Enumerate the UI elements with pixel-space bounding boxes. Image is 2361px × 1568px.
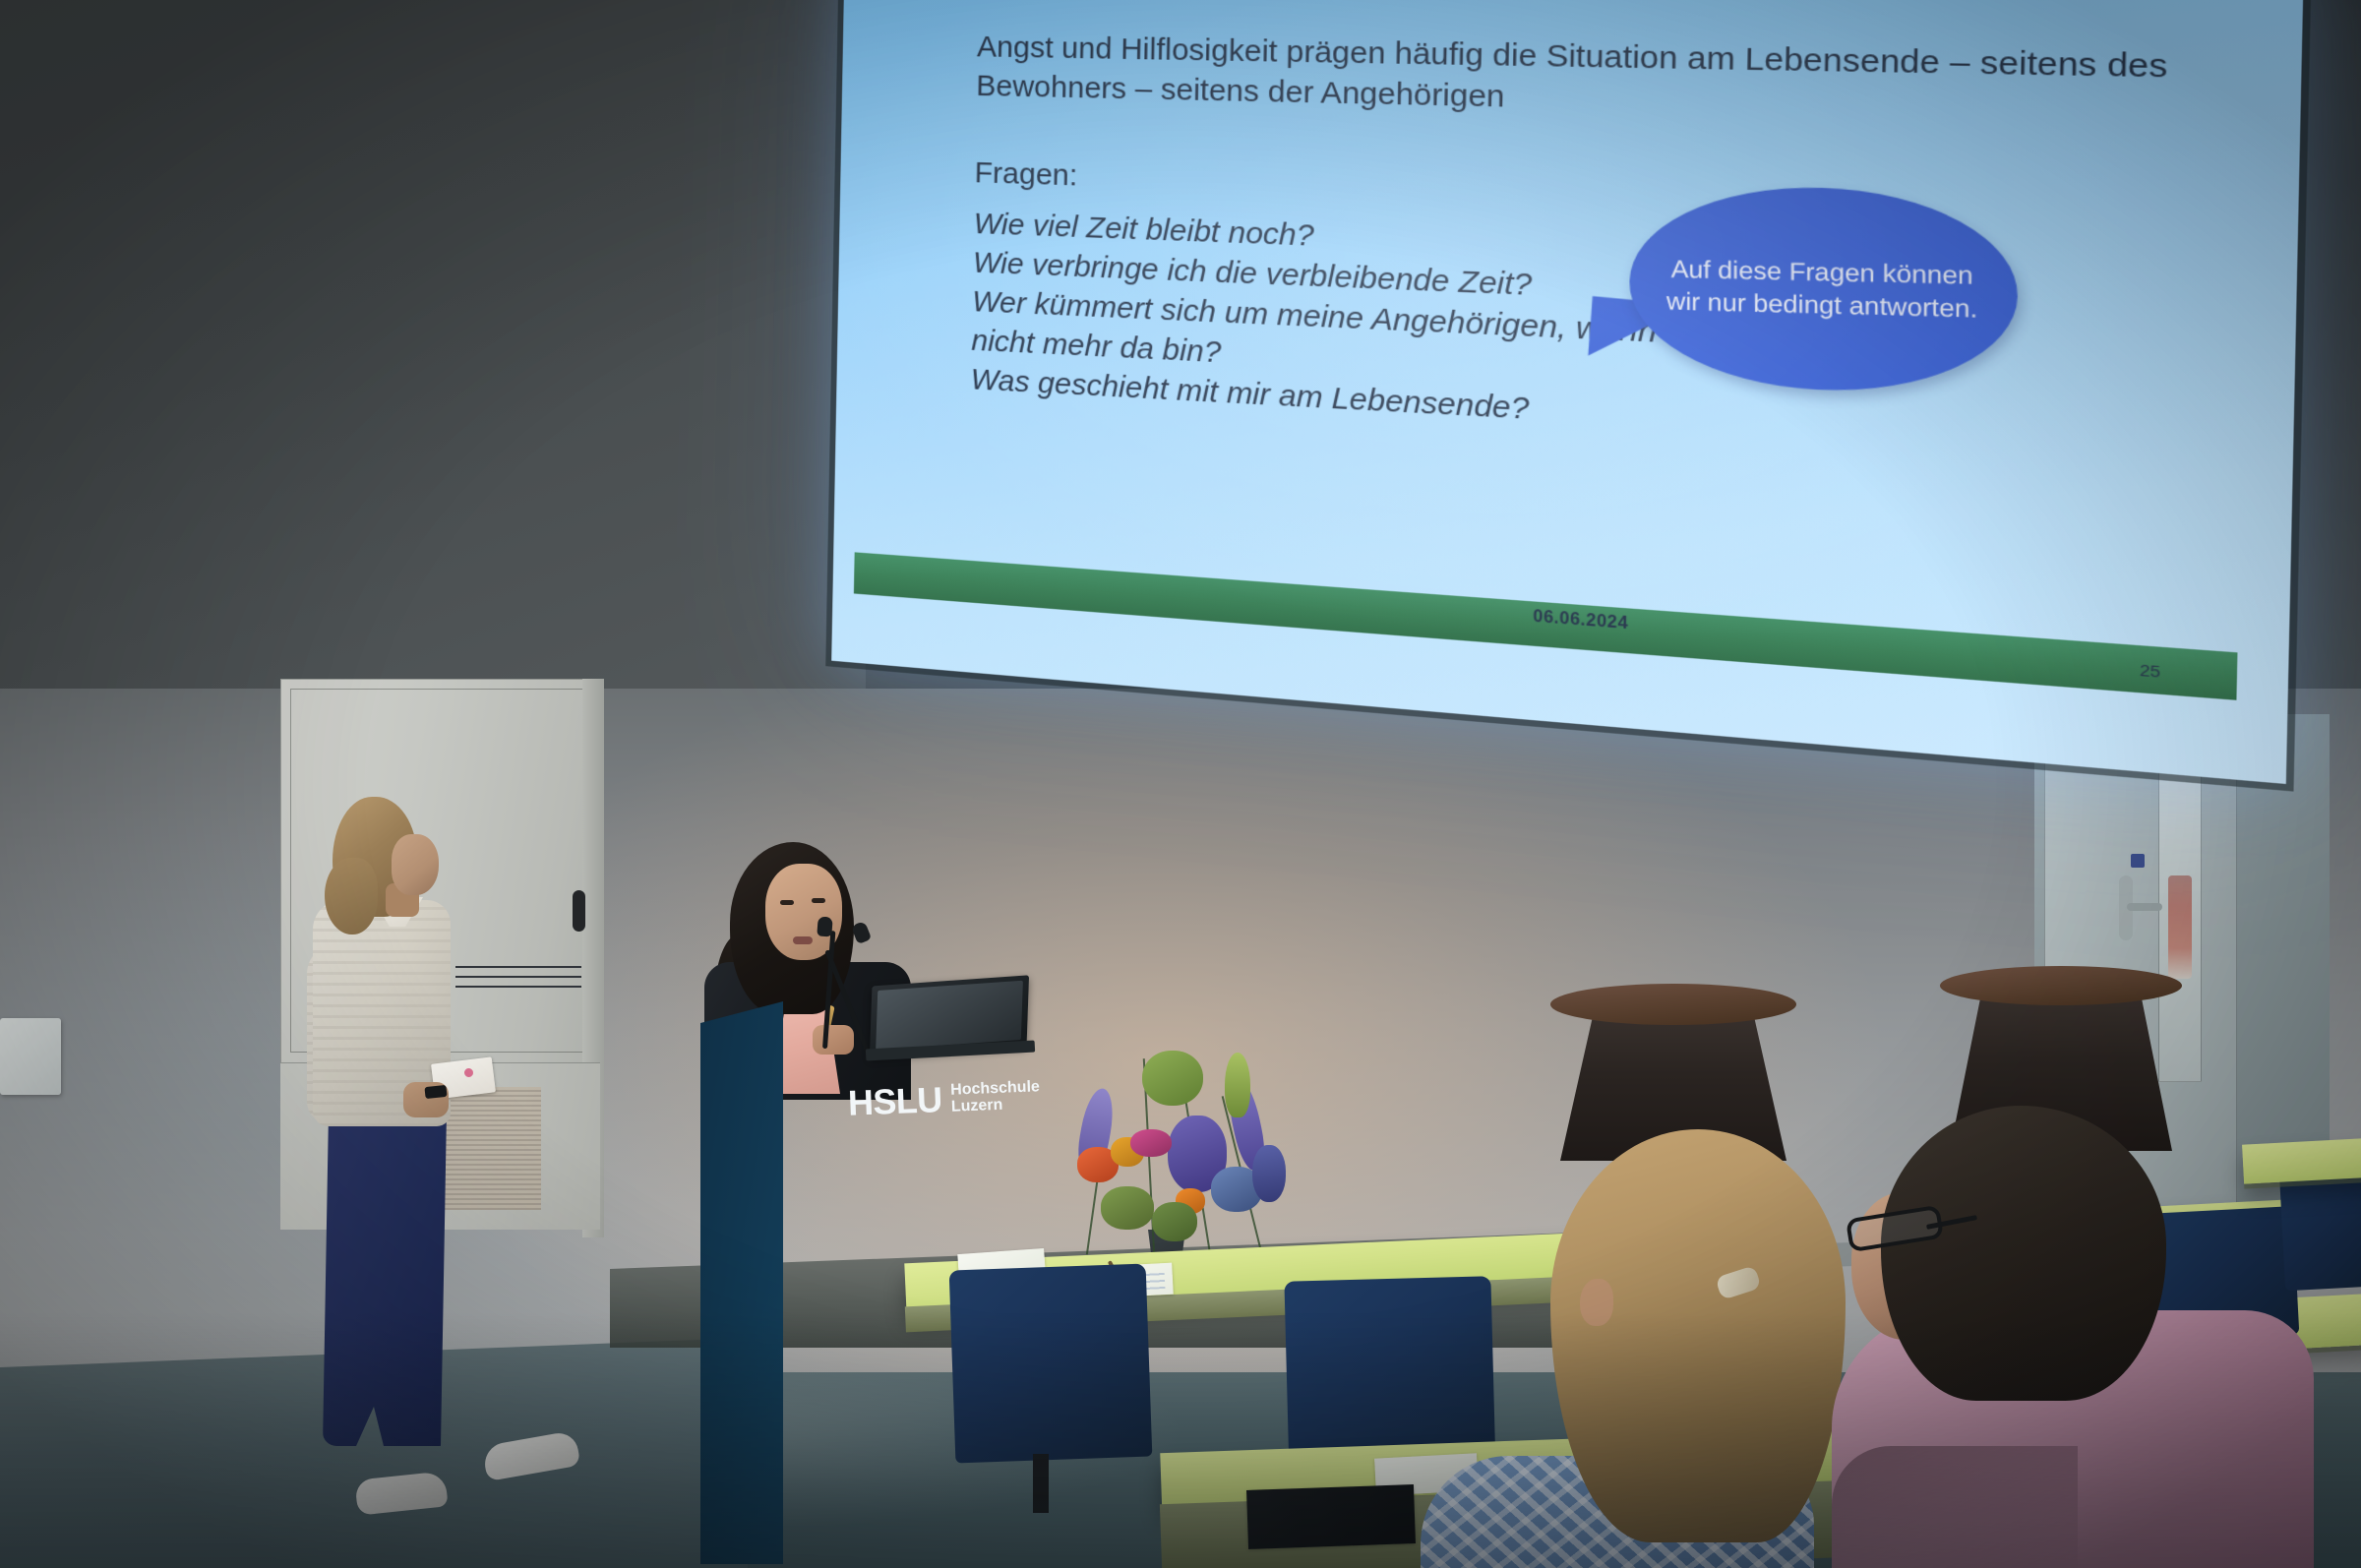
vent-slot-icon [455,976,581,978]
flower-blue [1252,1145,1286,1202]
foliage [1225,1053,1250,1117]
lecture-hall-photo: flegealltag Antwort Bewohners haben wir … [0,0,2361,1568]
bistro-table-top [1940,966,2182,1005]
slide-line-antwort: Antwort [978,0,1080,10]
foliage [1101,1186,1154,1230]
ear [1580,1279,1613,1326]
flower-pink [1130,1129,1172,1157]
vent-slot-icon [455,966,581,968]
trousers [323,1112,451,1446]
hslu-wordmark: HSLU [847,1079,942,1124]
hslu-logo-subtitle: Hochschule Luzern [950,1075,1041,1116]
bistro-table-top [1550,984,1796,1025]
wall-outlet-plate [0,1018,61,1095]
hslu-logo: HSLU Hochschule Luzern [847,1075,1041,1123]
hslu-logo-line2: Luzern [951,1097,1003,1116]
laptop-case [1246,1484,1416,1549]
cabinet-handle[interactable] [573,890,585,932]
door-handle[interactable] [2127,903,2162,911]
slide-page-number: 25 [2140,661,2161,682]
projection-screen: flegealltag Antwort Bewohners haben wir … [831,0,2304,784]
eye [812,898,825,903]
shoulder-shadow [1832,1446,2078,1568]
mouth [793,936,813,944]
slide-paragraph-angst: Angst und Hilflosigkeit prägen häufig di… [976,28,2220,134]
speech-bubble-text: Auf diese Fragen können wir nur bedingt … [1629,252,2018,327]
lectern-side [700,1001,783,1564]
hair [1550,1129,1846,1542]
presenter-clicker[interactable] [424,1085,447,1099]
chair-stem [1033,1454,1049,1513]
eye [780,900,794,905]
lecture-desk [2242,1137,2361,1183]
flower-bouquet [1058,1029,1303,1255]
chair[interactable] [2279,1169,2361,1292]
upper-left-wall [0,0,866,689]
hair [1881,1106,2166,1401]
hslu-logo-line1: Hochschule [950,1078,1040,1098]
foliage [1152,1202,1197,1241]
vent-slot-icon [455,986,581,988]
hair-bun [325,858,378,935]
presentation-slide: flegealltag Antwort Bewohners haben wir … [831,0,2304,784]
foliage [1142,1051,1203,1106]
door-pictogram-sign [2131,854,2145,868]
fire-extinguisher-icon [2168,875,2192,979]
slide-body: Antwort Bewohners haben wir oftmals kein… [970,0,2221,467]
microphone-icon [817,917,832,937]
face [392,834,439,895]
chair[interactable] [949,1264,1153,1464]
slide-line-bewohner: Bewohners haben wir oftmals keine [1347,0,1881,4]
